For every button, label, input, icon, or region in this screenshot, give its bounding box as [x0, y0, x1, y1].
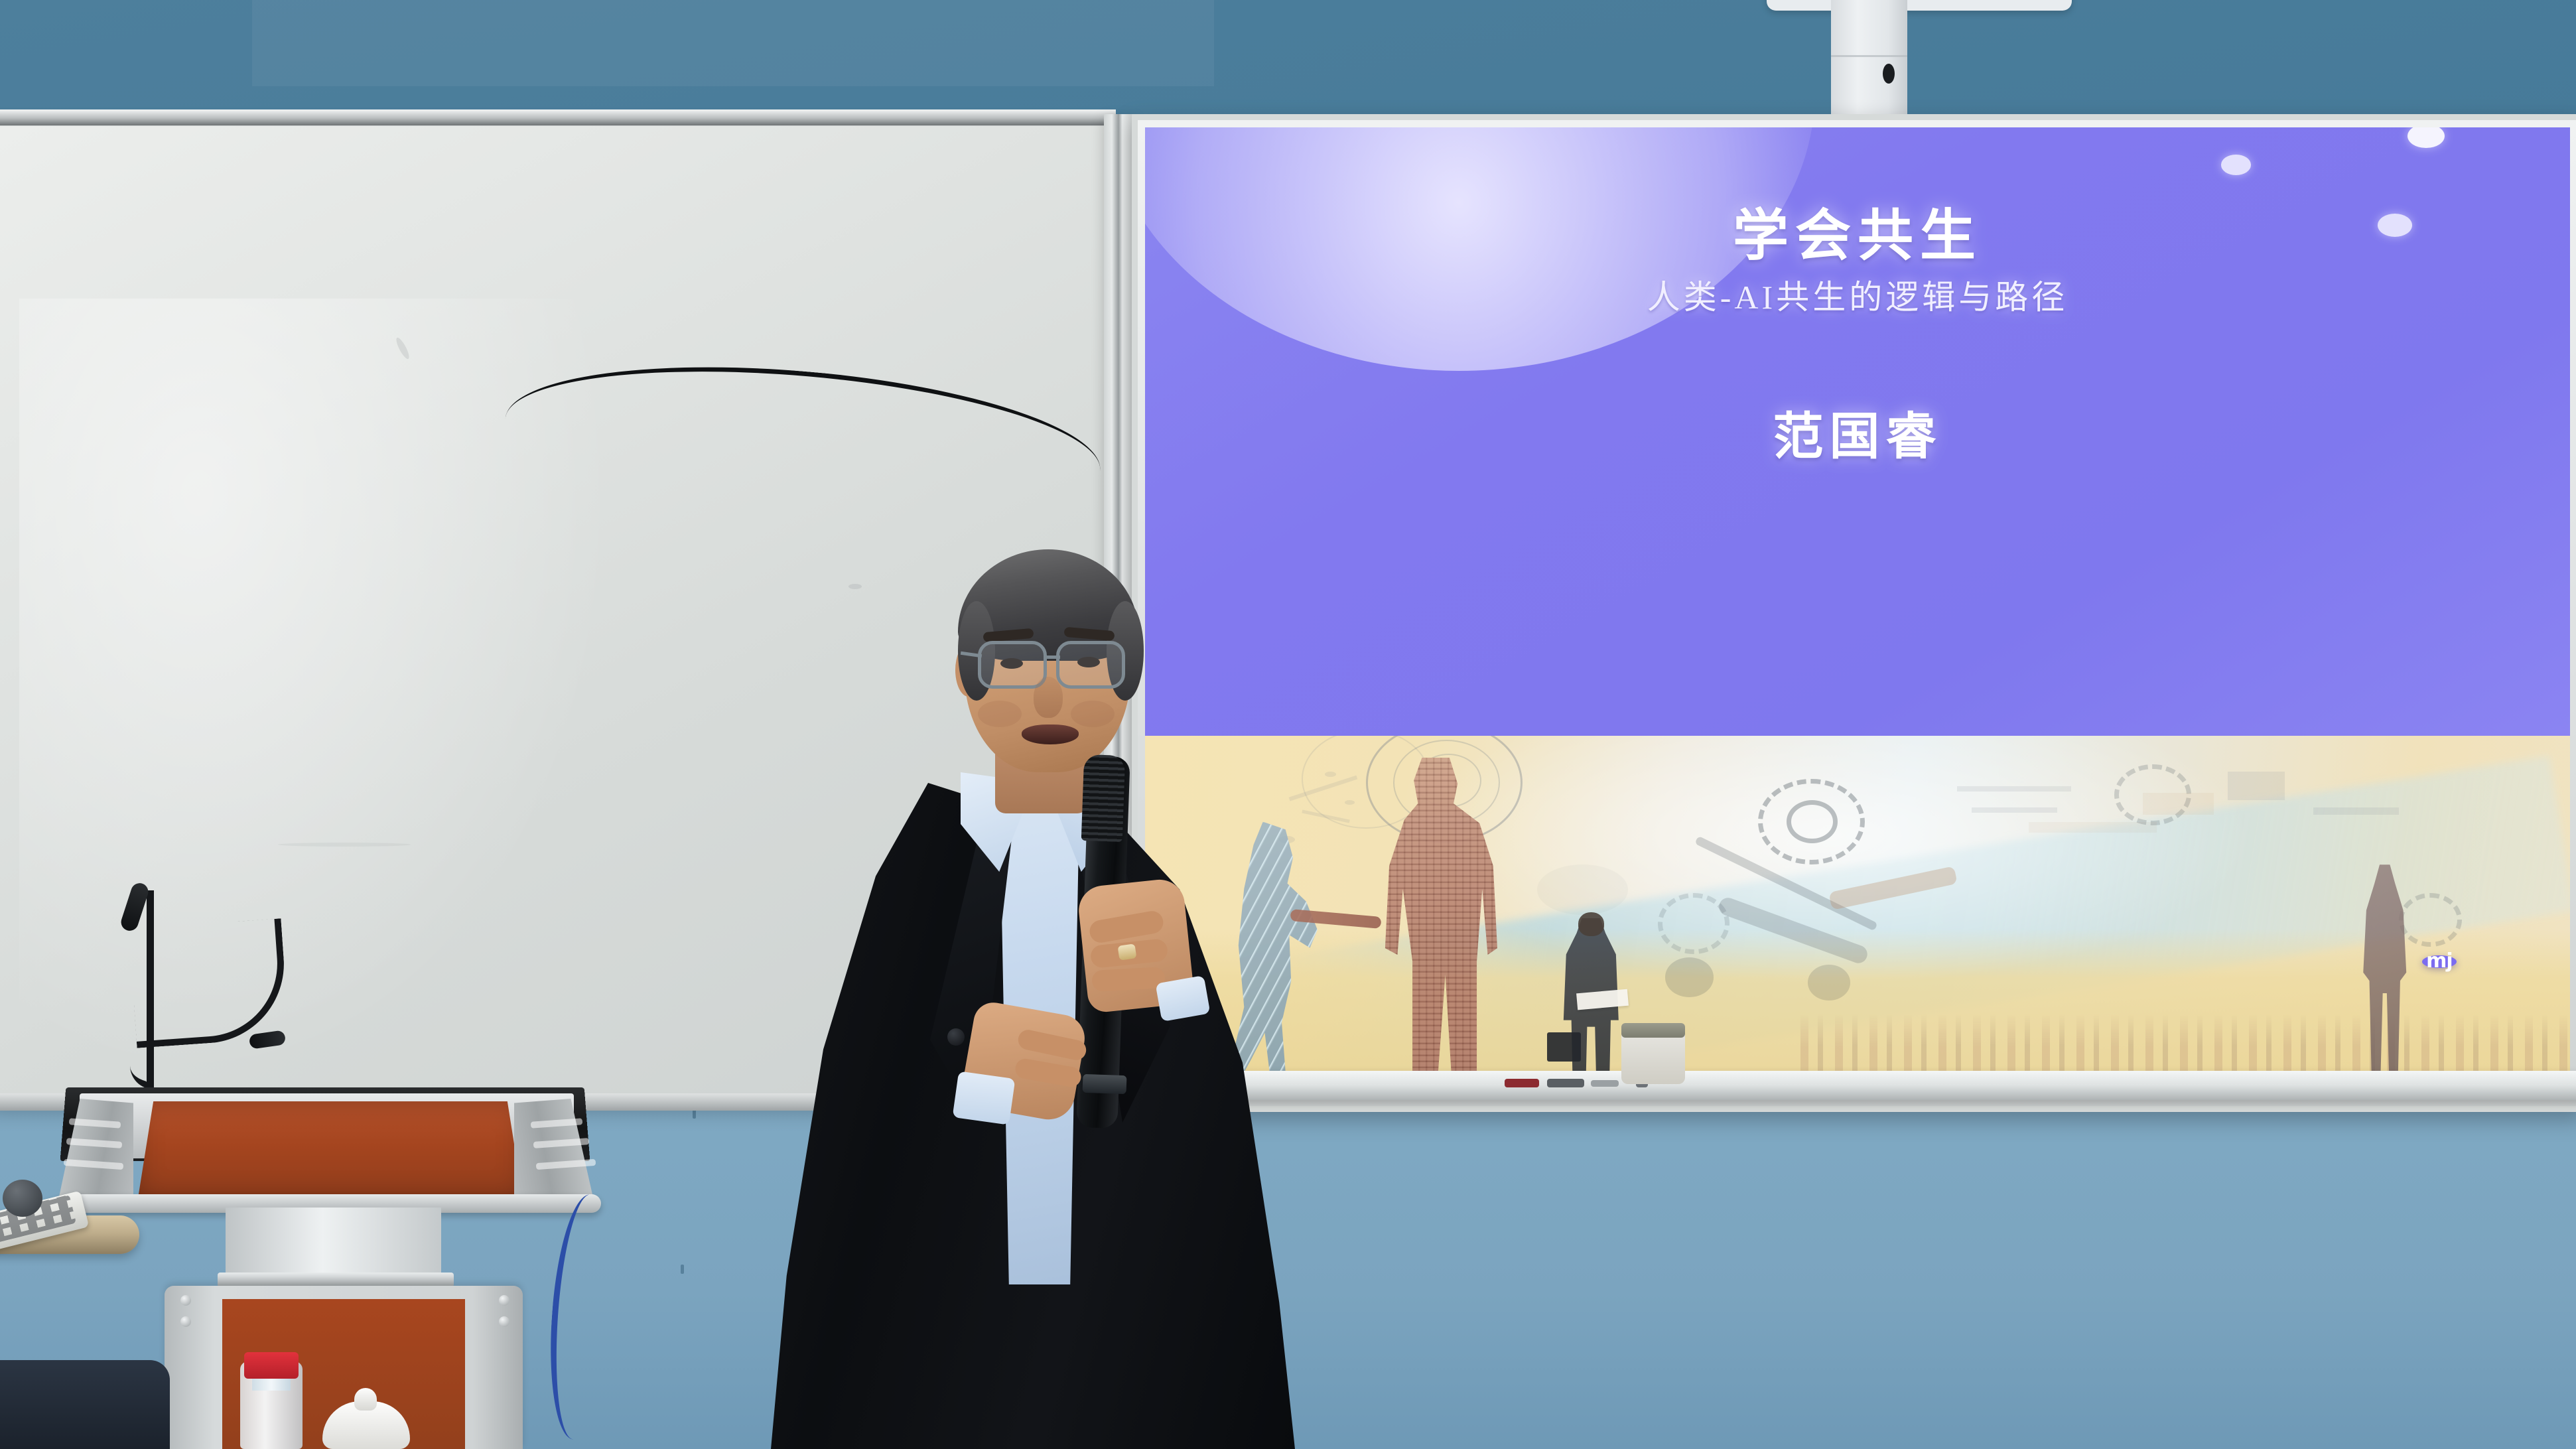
schematic-disc	[1537, 864, 1628, 914]
marker-red	[1505, 1079, 1539, 1087]
slide-presenter-name: 范国睿	[1145, 395, 2570, 468]
businessman-head	[1578, 912, 1604, 936]
schematic-tower	[2143, 793, 2214, 814]
projector-mount-bracket	[1831, 0, 1907, 117]
lecture-hall-photo: 学会共生 人类-AI共生的逻辑与路径 范国睿	[0, 0, 2576, 1449]
slide-subtitle: 人类-AI共生的逻辑与路径	[1145, 271, 2570, 318]
microphone-grille	[1081, 754, 1125, 842]
chair-back	[0, 1360, 170, 1449]
jacket-button	[947, 1028, 965, 1046]
microphone-band	[1083, 1074, 1127, 1094]
schematic-tower	[2228, 772, 2285, 800]
cheek-right	[1071, 701, 1115, 727]
mount-screw-icon	[1883, 64, 1895, 84]
slide-title: 学会共生	[1145, 191, 2570, 271]
slide-decor-circle	[2221, 155, 2251, 174]
marker-black	[1547, 1079, 1584, 1087]
eyeglasses-lens-right	[1056, 641, 1125, 689]
teapot-lid-knob	[354, 1388, 377, 1411]
nose	[1034, 677, 1063, 718]
schematic-line	[1972, 807, 2057, 813]
podium-wood-front	[138, 1101, 523, 1198]
gear-icon	[1658, 893, 1729, 954]
finger	[1091, 967, 1166, 992]
slide-upper-panel: 学会共生 人类-AI共生的逻辑与路径 范国睿	[1145, 127, 2570, 736]
wall-light-reflection	[252, 0, 1214, 86]
machine-wheel	[1665, 957, 1714, 997]
podium-bolt	[180, 1295, 191, 1306]
podium-bolt	[499, 1295, 509, 1306]
projection-screen: 学会共生 人类-AI共生的逻辑与路径 范国睿	[1145, 127, 2570, 1093]
presenter	[771, 544, 1295, 1449]
water-bottle-cap	[244, 1352, 299, 1379]
businessman-briefcase	[1547, 1032, 1582, 1061]
podium-bolt	[180, 1316, 191, 1327]
mount-seam	[1831, 55, 1907, 57]
whiteboard-smudge	[278, 843, 411, 847]
midjourney-watermark-badge: mj	[2422, 955, 2457, 969]
finger-ring	[1118, 943, 1137, 960]
marker-tray	[1137, 1071, 2576, 1100]
schematic-block	[2029, 822, 2157, 833]
gear-icon	[2399, 893, 2462, 947]
marker-grey	[1591, 1080, 1619, 1087]
midjourney-watermark-label: mj	[2426, 951, 2453, 971]
schematic-dot	[1345, 800, 1355, 804]
podium-column-cap	[218, 1273, 454, 1287]
eraser-cup-rim	[1621, 1023, 1685, 1038]
eyeglasses-bridge	[1046, 655, 1060, 659]
gear-icon	[1787, 800, 1838, 843]
schematic-line	[2313, 807, 2399, 815]
slide-illustration: mj	[1145, 736, 2570, 1093]
microphone-windscreen	[3, 1180, 42, 1217]
wall-mark	[693, 1109, 696, 1119]
wall-mark	[681, 1265, 684, 1274]
cheek-left	[978, 701, 1022, 727]
podium-bolt	[499, 1316, 509, 1327]
schematic-line	[1957, 786, 2071, 792]
ceiling-plate	[1767, 0, 2072, 11]
schematic-dot	[1325, 772, 1336, 777]
slide-decor-circle	[2407, 127, 2445, 148]
mouth	[1022, 724, 1079, 744]
eyeglasses-lens-left	[978, 641, 1047, 689]
shirt-cuff-left	[953, 1071, 1016, 1125]
whiteboard-top-frame	[0, 109, 1116, 125]
machine-wheel	[1808, 965, 1850, 1000]
